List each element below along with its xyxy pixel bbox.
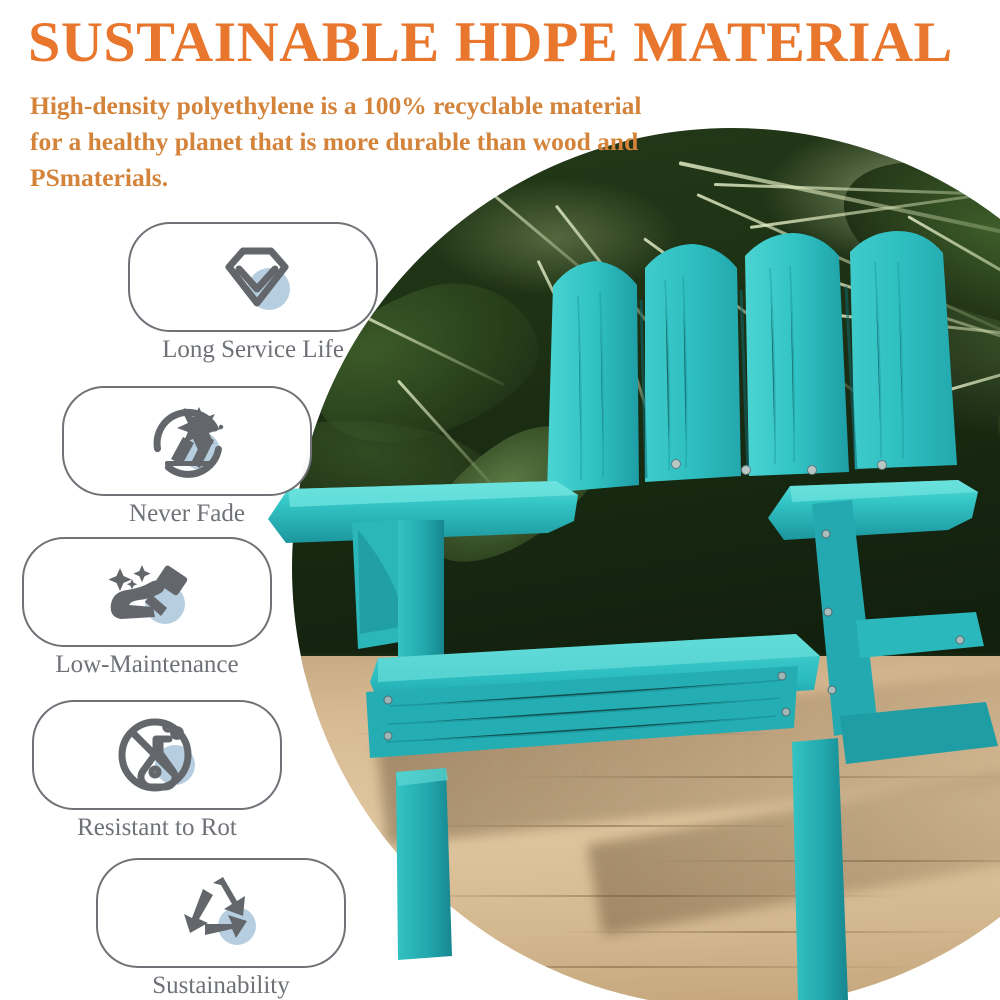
foliage-backdrop: [292, 128, 1000, 674]
product-photo-circle: [292, 128, 1000, 1000]
page-subtitle: High-density polyethylene is a 100% recy…: [30, 88, 670, 197]
feature-label-low-maintenance: Low-Maintenance: [22, 651, 272, 679]
feature-badge-never-fade[interactable]: [62, 386, 312, 496]
feature-badge-low-maintenance[interactable]: [22, 537, 272, 647]
paint-roller-splash-icon: [135, 401, 239, 481]
feature-badge-long-service-life[interactable]: [128, 222, 378, 332]
feature-label-resistant-to-rot: Resistant to Rot: [32, 814, 282, 842]
feature-badge-resistant-to-rot[interactable]: [32, 700, 282, 810]
cleaning-hand-sparkle-icon: [95, 552, 199, 632]
gem-icon: [201, 237, 305, 317]
recycle-icon: [169, 873, 273, 953]
patio-ground: [292, 656, 1000, 1000]
feature-label-sustainability: Sustainability: [96, 972, 346, 1000]
photo-inner: [292, 128, 1000, 1000]
page-title: SUSTAINABLE HDPE MATERIAL: [28, 14, 953, 72]
feature-label-never-fade: Never Fade: [62, 500, 312, 528]
feature-badge-sustainability[interactable]: [96, 858, 346, 968]
no-chemicals-flask-icon: [105, 715, 209, 795]
feature-label-long-service-life: Long Service Life: [128, 336, 378, 364]
product-infographic: SUSTAINABLE HDPE MATERIAL High-density p…: [0, 0, 1000, 1000]
